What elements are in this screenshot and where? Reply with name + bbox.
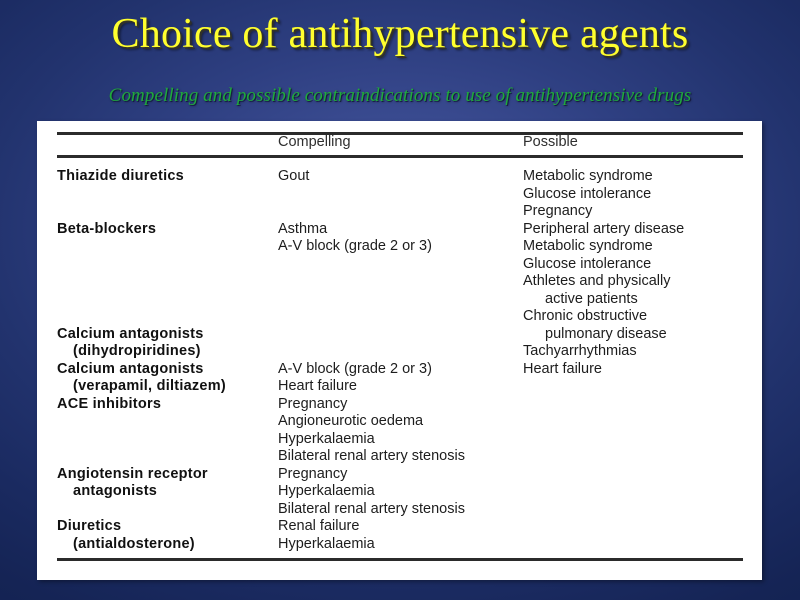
slide-canvas: Choice of antihypertensive agents Compel… [0,0,800,600]
possible-ca-dhp-tachyarrhythmias: Tachyarrhythmias [523,343,637,361]
row-label-calcium-antagonists-nondhp-sub: (verapamil, diltiazem) [57,378,226,396]
possible-thiazide-pregnancy: Pregnancy [523,203,592,221]
possible-beta-copd: Chronic obstructive [523,308,647,326]
possible-thiazide-metabolic-syndrome: Metabolic syndrome [523,168,653,186]
column-header-possible: Possible [523,134,578,152]
possible-beta-glucose-intolerance: Glucose intolerance [523,256,651,274]
column-header-compelling: Compelling [278,134,351,152]
compelling-ace-angioneurotic-oedema: Angioneurotic oedema [278,413,423,431]
compelling-ace-bilateral-renal-artery-stenosis: Bilateral renal artery stenosis [278,448,465,466]
compelling-beta-asthma: Asthma [278,221,327,239]
possible-beta-athletes-cont: active patients [523,291,638,309]
compelling-diuretics-renal-failure: Renal failure [278,518,359,536]
row-label-calcium-antagonists-dhp-sub: (dihydropiridines) [57,343,201,361]
contraindications-table-card: Compelling Possible Thiazide diuretics B… [37,121,762,580]
compelling-beta-av-block: A-V block (grade 2 or 3) [278,238,432,256]
possible-thiazide-glucose-intolerance: Glucose intolerance [523,186,651,204]
page-title: Choice of antihypertensive agents [0,9,800,59]
row-label-calcium-antagonists-dhp: Calcium antagonists [57,326,204,344]
compelling-arb-pregnancy: Pregnancy [278,466,347,484]
compelling-ca-nondhp-heart-failure: Heart failure [278,378,357,396]
page-subtitle: Compelling and possible contraindication… [0,85,800,107]
compelling-ca-nondhp-av-block: A-V block (grade 2 or 3) [278,361,432,379]
table-rule-top [57,132,743,135]
possible-beta-athletes: Athletes and physically [523,273,671,291]
possible-beta-copd-cont: pulmonary disease [523,326,667,344]
possible-beta-metabolic-syndrome: Metabolic syndrome [523,238,653,256]
table-inner: Compelling Possible Thiazide diuretics B… [37,121,762,580]
compelling-ace-pregnancy: Pregnancy [278,396,347,414]
compelling-thiazide-gout: Gout [278,168,309,186]
compelling-arb-hyperkalaemia: Hyperkalaemia [278,483,375,501]
possible-beta-peripheral-artery-disease: Peripheral artery disease [523,221,684,239]
compelling-ace-hyperkalaemia: Hyperkalaemia [278,431,375,449]
row-label-ace-inhibitors: ACE inhibitors [57,396,161,414]
compelling-arb-bilateral-renal-artery-stenosis: Bilateral renal artery stenosis [278,501,465,519]
table-rule-header [57,155,743,158]
compelling-diuretics-hyperkalaemia: Hyperkalaemia [278,536,375,554]
row-label-calcium-antagonists-nondhp: Calcium antagonists [57,361,204,379]
row-label-diuretics: Diuretics [57,518,121,536]
row-label-diuretics-sub: (antialdosterone) [57,536,195,554]
possible-ca-dhp-heart-failure: Heart failure [523,361,602,379]
row-label-beta-blockers: Beta-blockers [57,221,156,239]
row-label-angiotensin-receptor-antagonists-sub: antagonists [57,483,157,501]
row-label-thiazide-diuretics: Thiazide diuretics [57,168,184,186]
row-label-angiotensin-receptor-antagonists: Angiotensin receptor [57,466,208,484]
table-rule-bottom [57,558,743,561]
